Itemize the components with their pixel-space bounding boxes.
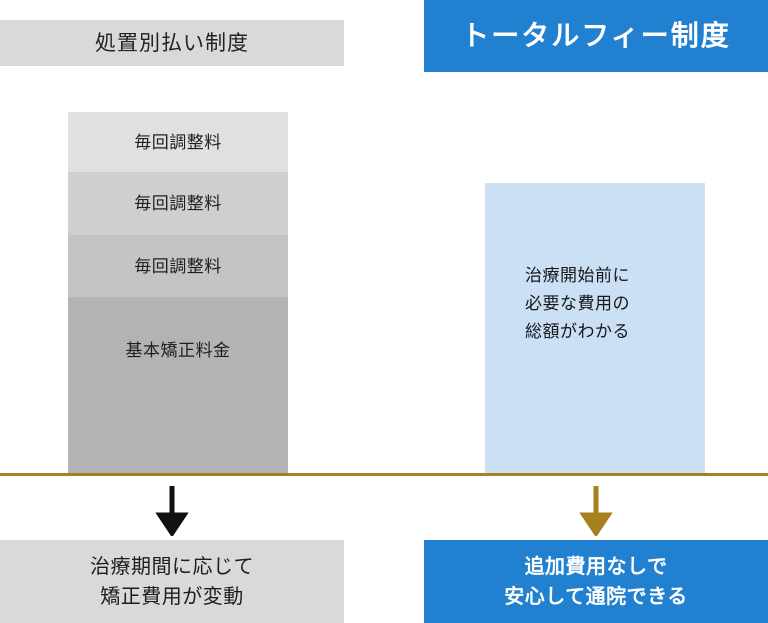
diagram-canvas: 処置別払い制度 トータルフィー制度 毎回調整料 毎回調整料 毎回調整料 基本矯正…: [0, 0, 768, 623]
stack-segment-label: 毎回調整料: [134, 195, 222, 212]
stack-segment-label: 基本矯正料金: [126, 342, 231, 359]
stack-segment-label: 毎回調整料: [134, 258, 222, 275]
right-column-footer: 追加費用なしで 安心して通院できる: [424, 540, 768, 623]
right-column-header: トータルフィー制度: [424, 0, 768, 72]
baseline-divider: [0, 473, 768, 476]
fee-stack-bar: 毎回調整料 毎回調整料 毎回調整料 基本矯正料金: [68, 112, 288, 475]
stack-segment-adjustment-2: 毎回調整料: [68, 172, 288, 235]
down-arrow-icon-left: [152, 486, 192, 536]
right-column-footer-label: 追加費用なしで 安心して通院できる: [504, 552, 688, 612]
left-column-footer-label: 治療期間に応じて 矯正費用が変動: [90, 552, 254, 612]
stack-segment-base-fee: 基本矯正料金: [68, 297, 288, 475]
down-arrow-icon-right: [576, 486, 616, 536]
left-column-header: 処置別払い制度: [0, 20, 344, 66]
left-column-header-label: 処置別払い制度: [95, 33, 249, 54]
total-fee-block: 治療開始前に 必要な費用の 総額がわかる: [485, 183, 705, 475]
left-column-footer: 治療期間に応じて 矯正費用が変動: [0, 540, 344, 623]
stack-segment-adjustment-1: 毎回調整料: [68, 112, 288, 172]
stack-segment-adjustment-3: 毎回調整料: [68, 235, 288, 297]
stack-segment-label: 毎回調整料: [134, 134, 222, 151]
right-column-header-label: トータルフィー制度: [461, 22, 730, 50]
total-fee-block-text: 治療開始前に 必要な費用の 総額がわかる: [525, 262, 630, 346]
